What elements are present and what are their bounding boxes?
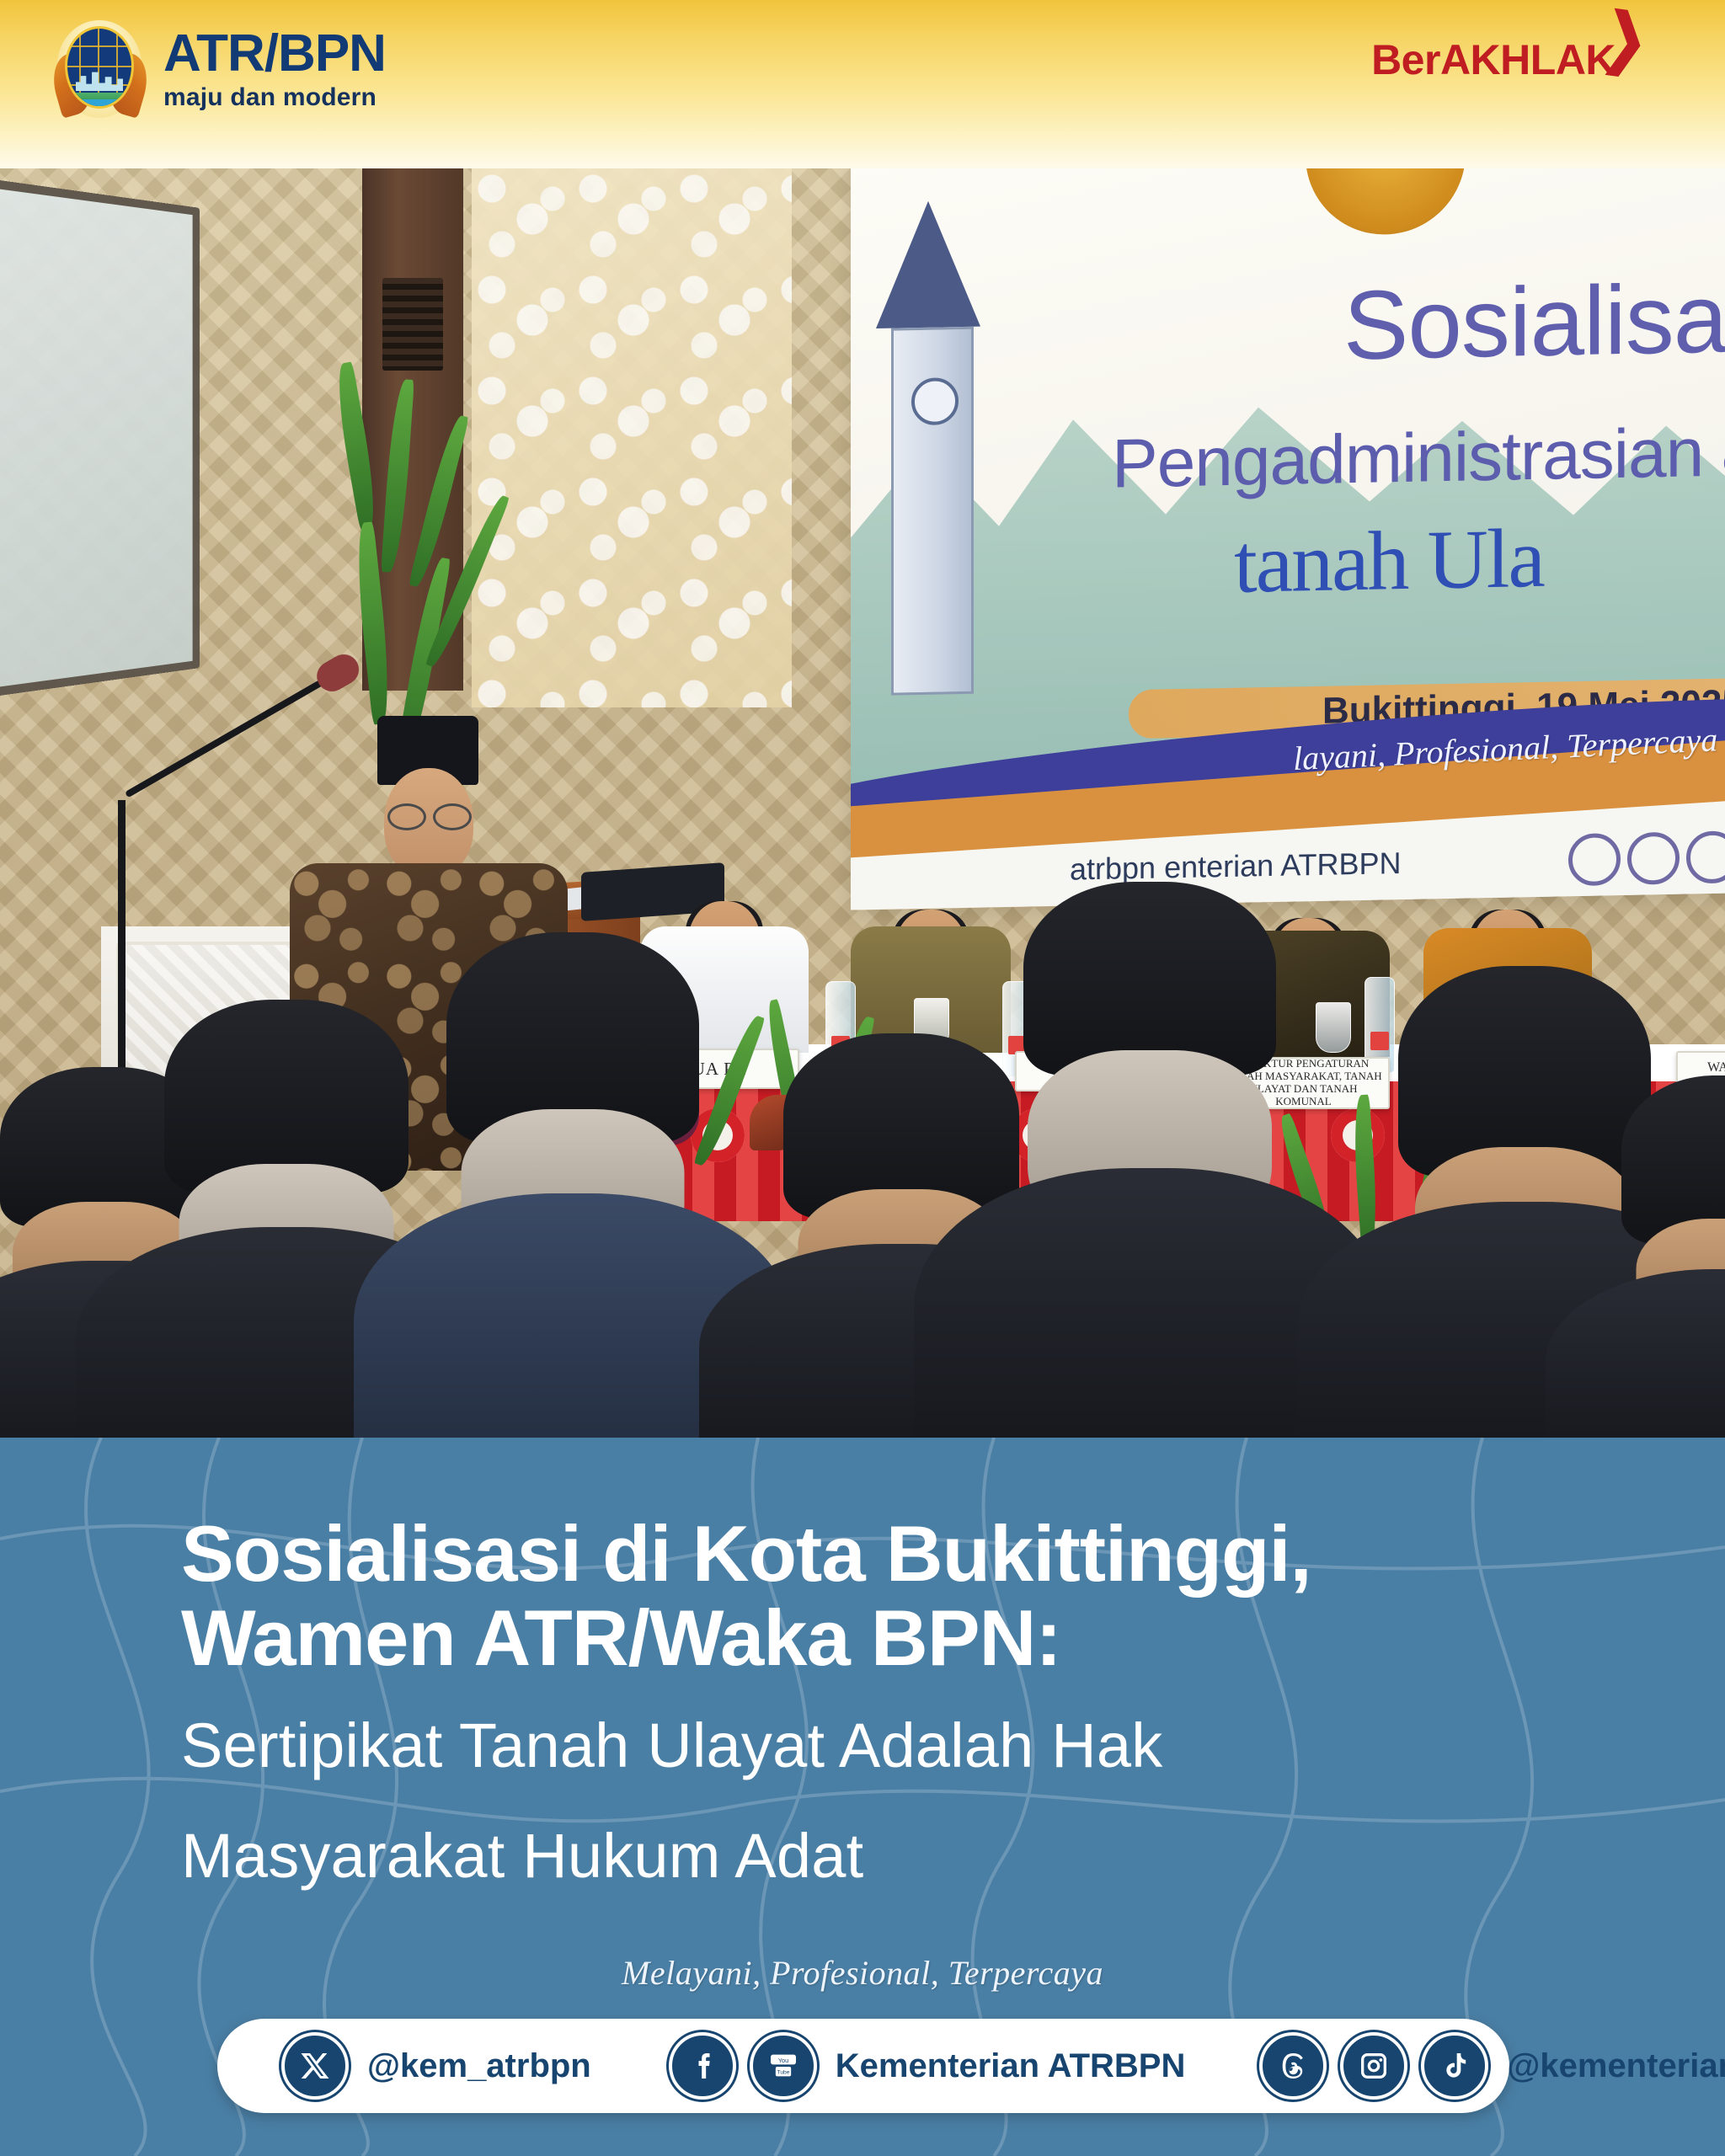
subhead-line-1: Sertipikat Tanah Ulayat Adalah Hak (181, 1701, 1613, 1790)
facebook-icon[interactable] (669, 2032, 736, 2100)
social-media-bar: @kem_atrbpn YouTube Kementerian ATRBPN (217, 2019, 1509, 2113)
chevron-right-icon: ❯ (1599, 4, 1652, 75)
svg-text:Tube: Tube (777, 2069, 789, 2075)
decorative-wall-panel (472, 168, 792, 707)
header-bar: ATR/BPN maju dan modern BerAKHLAK ❯ (0, 0, 1725, 168)
banner-subtitle: Pengadministrasian & (1112, 413, 1725, 504)
logo-title: ATR/BPN (163, 28, 386, 80)
subhead-line-2: Masyarakat Hukum Adat (181, 1812, 1613, 1900)
berakhlak-label: BerAKHLAK (1371, 39, 1616, 81)
social-handle-x[interactable]: @kem_atrbpn (367, 2047, 591, 2085)
atr-bpn-globe-emblem-icon (51, 17, 148, 121)
caption-headline: Sosialisasi di Kota Bukittinggi, Wamen A… (181, 1512, 1613, 1900)
social-handle-facebook-youtube[interactable]: Kementerian ATRBPN (836, 2047, 1186, 2085)
banner-topic: tanah Ula (1234, 510, 1544, 612)
audience-foreground (0, 814, 1725, 1438)
social-group-x[interactable]: @kem_atrbpn (281, 2032, 591, 2100)
social-group-facebook-youtube[interactable]: YouTube Kementerian ATRBPN (669, 2032, 1186, 2100)
x-twitter-icon[interactable] (281, 2032, 349, 2100)
banner-seal-icon (1306, 168, 1466, 236)
motto-tagline: Melayani, Profesional, Terpercaya (0, 1953, 1725, 1993)
poster-root: ATR/BPN maju dan modern BerAKHLAK ❯ Sosi… (0, 0, 1725, 2156)
social-group-threads-instagram-tiktok[interactable]: @kementerian.atrbpn (1259, 2032, 1725, 2100)
jam-gadang-illustration-icon (851, 200, 1019, 691)
svg-text:You: You (778, 2057, 788, 2064)
projection-screen (0, 178, 200, 698)
tiktok-icon[interactable] (1421, 2032, 1488, 2100)
caption-panel: Sosialisasi di Kota Bukittinggi, Wamen A… (0, 1438, 1725, 2156)
berakhlak-logo: BerAKHLAK ❯ (1371, 39, 1648, 81)
instagram-icon[interactable] (1340, 2032, 1407, 2100)
event-backdrop-banner: Sosialisa Pengadministrasian & tanah Ula… (851, 168, 1725, 910)
social-handle-threads-instagram-tiktok[interactable]: @kementerian.atrbpn (1507, 2047, 1725, 2085)
headline-line-2: Wamen ATR/Waka BPN: (181, 1596, 1613, 1680)
logo-tagline: maju dan modern (163, 85, 386, 110)
atr-bpn-logo: ATR/BPN maju dan modern (51, 17, 386, 121)
banner-title: Sosialisa (1343, 262, 1725, 382)
headline-line-1: Sosialisasi di Kota Bukittinggi, (181, 1512, 1613, 1596)
event-photo: Sosialisa Pengadministrasian & tanah Ula… (0, 168, 1725, 1438)
threads-icon[interactable] (1259, 2032, 1327, 2100)
youtube-icon[interactable]: YouTube (750, 2032, 817, 2100)
